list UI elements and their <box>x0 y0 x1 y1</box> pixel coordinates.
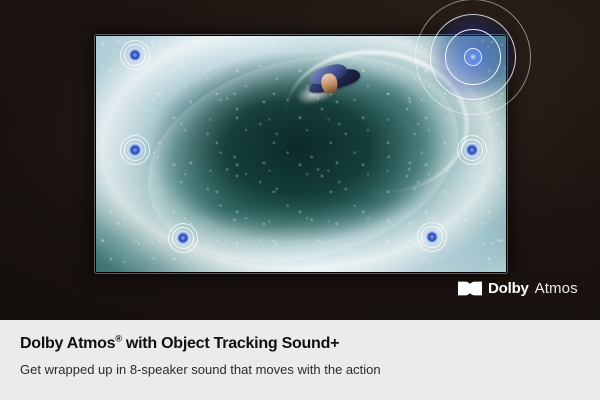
hero-background: Dolby Atmos <box>0 0 600 320</box>
caption-title-rest: with Object Tracking Sound+ <box>122 335 339 352</box>
caption-panel: Dolby Atmos® with Object Tracking Sound+… <box>0 320 600 400</box>
caption-subtitle: Get wrapped up in 8-speaker sound that m… <box>20 361 580 379</box>
television-screen <box>96 36 506 272</box>
caption-title-brand: Dolby Atmos <box>20 335 115 352</box>
dolby-atmos-logo: Dolby Atmos <box>458 281 578 296</box>
atmos-wordmark: Atmos <box>535 281 578 296</box>
caption-title: Dolby Atmos® with Object Tracking Sound+ <box>20 334 580 353</box>
promo-banner: Dolby Atmos Dolby Atmos® with Object Tra… <box>0 0 600 400</box>
dolby-wordmark: Dolby <box>488 281 529 296</box>
dolby-double-d-icon <box>458 281 482 296</box>
television-frame <box>95 35 507 273</box>
